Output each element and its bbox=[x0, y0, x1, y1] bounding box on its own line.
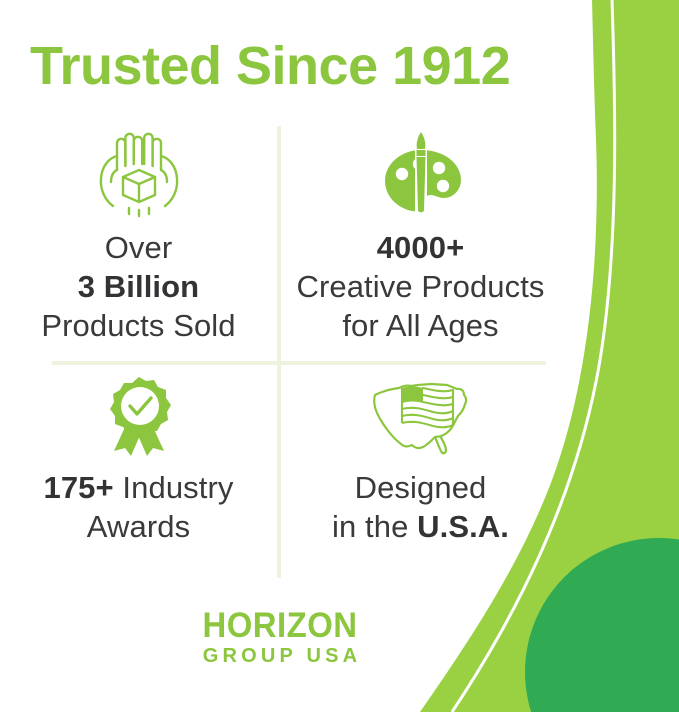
logo-tagline: GROUP USA bbox=[0, 644, 560, 668]
stat-label-usa-prefix: in the bbox=[332, 509, 417, 544]
usa-map-flag-icon bbox=[361, 372, 481, 458]
infographic-poster: Trusted Since 1912 bbox=[0, 0, 679, 712]
paint-palette-brush-icon bbox=[369, 126, 473, 218]
stat-line-2: Creative Products bbox=[296, 267, 544, 306]
stat-line-3: Products Sold bbox=[41, 306, 235, 345]
stat-line-2: 3 Billion bbox=[41, 267, 235, 306]
grid-divider-horizontal bbox=[52, 361, 546, 365]
stat-line-2: in the U.S.A. bbox=[332, 507, 509, 546]
stat-text-products-sold: Over 3 Billion Products Sold bbox=[41, 228, 235, 345]
stat-line-1: 4000+ bbox=[296, 228, 544, 267]
stat-cell-industry-awards: 175+ Industry Awards bbox=[0, 372, 277, 546]
grid-divider-vertical bbox=[277, 126, 281, 578]
hands-holding-box-icon bbox=[87, 126, 191, 218]
stat-cell-creative-products: 4000+ Creative Products for All Ages bbox=[282, 126, 559, 345]
stats-grid: Over 3 Billion Products Sold bbox=[0, 122, 560, 582]
stat-text-designed-usa: Designed in the U.S.A. bbox=[332, 468, 509, 546]
stat-value-usa: U.S.A. bbox=[417, 509, 509, 544]
logo-name: HORIZON bbox=[17, 608, 543, 644]
stat-cell-products-sold: Over 3 Billion Products Sold bbox=[0, 126, 277, 345]
stat-text-creative-products: 4000+ Creative Products for All Ages bbox=[296, 228, 544, 345]
brand-logo: HORIZON GROUP USA bbox=[0, 608, 560, 668]
award-ribbon-check-icon bbox=[87, 372, 191, 458]
page-title: Trusted Since 1912 bbox=[30, 36, 570, 96]
stat-label-awards: Industry bbox=[114, 470, 234, 505]
stat-cell-designed-usa: Designed in the U.S.A. bbox=[282, 372, 559, 546]
stat-line-3: for All Ages bbox=[296, 306, 544, 345]
stat-line-1: Over bbox=[41, 228, 235, 267]
stat-text-industry-awards: 175+ Industry Awards bbox=[43, 468, 233, 546]
stat-line-2: Awards bbox=[43, 507, 233, 546]
stat-line-1: Designed bbox=[332, 468, 509, 507]
stat-value-awards: 175+ bbox=[43, 470, 113, 505]
stat-line-1: 175+ Industry bbox=[43, 468, 233, 507]
